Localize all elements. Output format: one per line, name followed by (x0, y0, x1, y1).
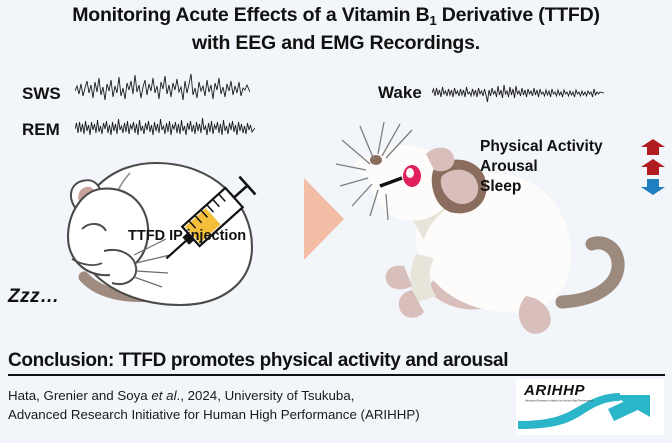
conclusion-underline (8, 374, 665, 376)
rem-label: REM (22, 120, 60, 140)
wake-eeg-trace (432, 80, 604, 108)
wake-label: Wake (378, 83, 422, 103)
figure-canvas: Monitoring Acute Effects of a Vitamin B1… (0, 0, 672, 443)
page-title: Monitoring Acute Effects of a Vitamin B1… (0, 2, 672, 56)
citation-line-1: Hata, Grenier and Soya et al., 2024, Uni… (8, 388, 354, 403)
outcomes-list: Physical Activity Arousal Sleep (480, 137, 666, 197)
outcome-label: Arousal (480, 158, 538, 176)
rem-eeg-trace (75, 115, 255, 143)
awake-mouse-nose (370, 155, 382, 165)
arihhp-logo: ARIHHP Advanced Research Initiative for … (516, 379, 664, 435)
awake-mouse-front-paw (386, 266, 412, 290)
arrow-up-icon (640, 158, 666, 176)
sws-label: SWS (22, 84, 61, 104)
outcome-label: Physical Activity (480, 138, 603, 156)
citation-et-al: et al (151, 388, 176, 403)
citation-line-2: Advanced Research Initiative for Human H… (8, 407, 420, 422)
syringe-plunger-rod (234, 186, 247, 198)
sleep-sound-label: Zzz… (8, 286, 60, 308)
sws-eeg-trace (75, 72, 250, 106)
arrow-up-icon (640, 138, 666, 156)
title-line-1: Monitoring Acute Effects of a Vitamin B1… (72, 4, 600, 26)
awake-mouse-eye-highlight (406, 168, 414, 178)
outcome-row: Physical Activity (480, 137, 666, 156)
arihhp-subtitle: Advanced Research Initiative for Human H… (525, 399, 615, 403)
arrow-down-icon (640, 178, 666, 196)
title-subscript: 1 (430, 13, 437, 28)
citation: Hata, Grenier and Soya et al., 2024, Uni… (8, 386, 508, 424)
arihhp-wordmark: ARIHHP (524, 382, 585, 399)
outcome-row: Arousal (480, 157, 666, 176)
syringe-icon (148, 175, 268, 267)
conclusion-text: Conclusion: TTFD promotes physical activ… (8, 350, 668, 372)
injection-label: TTFD IP injection (128, 228, 246, 244)
title-line-2: with EEG and EMG Recordings. (192, 32, 480, 54)
outcome-label: Sleep (480, 178, 521, 196)
outcome-row: Sleep (480, 177, 666, 196)
